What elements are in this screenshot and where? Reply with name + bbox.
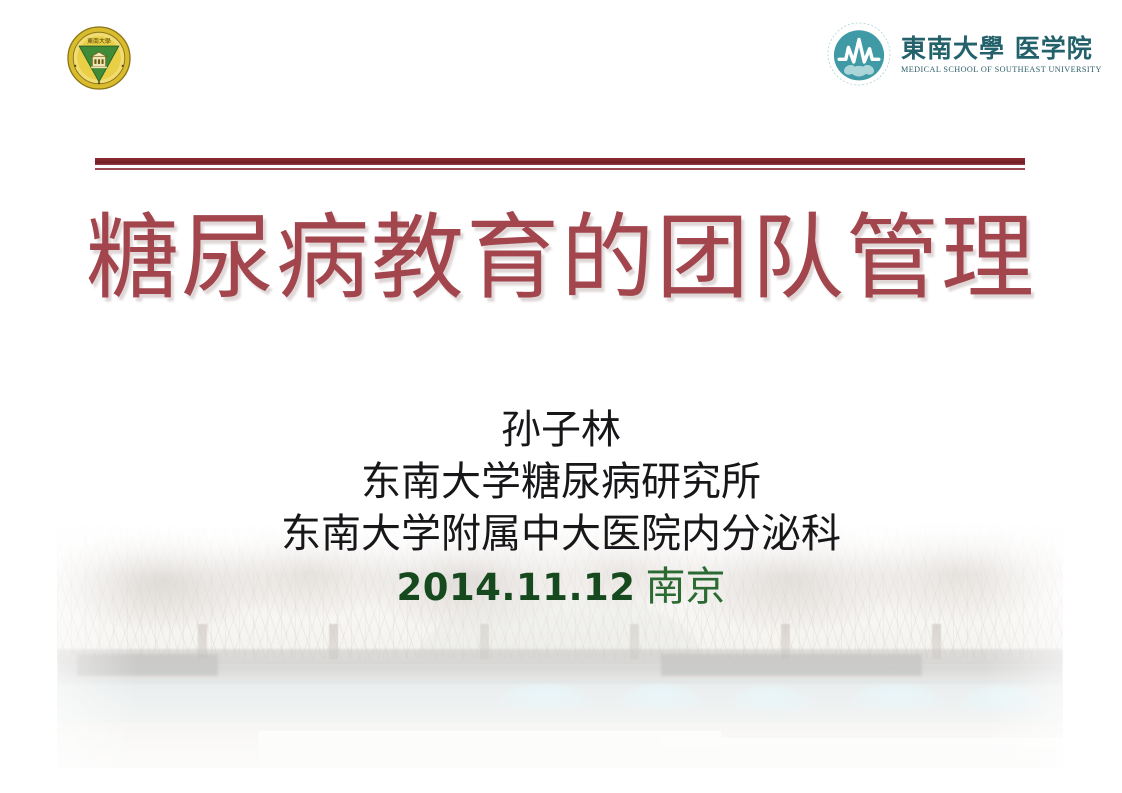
medical-school-logo: 東南大學 医学院 MEDICAL SCHOOL OF SOUTHEAST UNI…: [826, 20, 1071, 88]
presenter-name: 孙子林: [0, 404, 1122, 456]
presentation-date: 2014.11.12: [396, 566, 635, 609]
medical-school-name-cn: 東南大學 医学院: [901, 36, 1102, 62]
subtitle-block: 孙子林 东南大学糖尿病研究所 东南大学附属中大医院内分泌科 2014.11.12…: [0, 404, 1122, 615]
title-divider: [95, 158, 1025, 170]
affiliation-line-2: 东南大学附属中大医院内分泌科: [0, 508, 1122, 560]
affiliation-line-1: 东南大学糖尿病研究所: [0, 456, 1122, 508]
medical-school-emblem-icon: [826, 21, 892, 87]
presentation-city: 南京: [646, 564, 726, 610]
divider-thin-rule: [95, 168, 1025, 170]
medical-school-name-en: MEDICAL SCHOOL OF SOUTHEAST UNIVERSITY: [901, 65, 1102, 74]
slide-title: 糖尿病教育的团队管理: [0, 206, 1122, 310]
presentation-slide: 東南大學 東南大學 医学院 MEDICAL SCHOOL OF SOUTHEAS…: [0, 0, 1122, 793]
medical-school-wordmark: 東南大學 医学院 MEDICAL SCHOOL OF SOUTHEAST UNI…: [901, 34, 1102, 74]
svg-text:東南大學: 東南大學: [87, 37, 111, 45]
divider-thick-rule: [95, 158, 1025, 165]
southeast-university-seal-icon: 東南大學: [66, 25, 132, 91]
date-location-line: 2014.11.12南京: [0, 561, 1122, 615]
